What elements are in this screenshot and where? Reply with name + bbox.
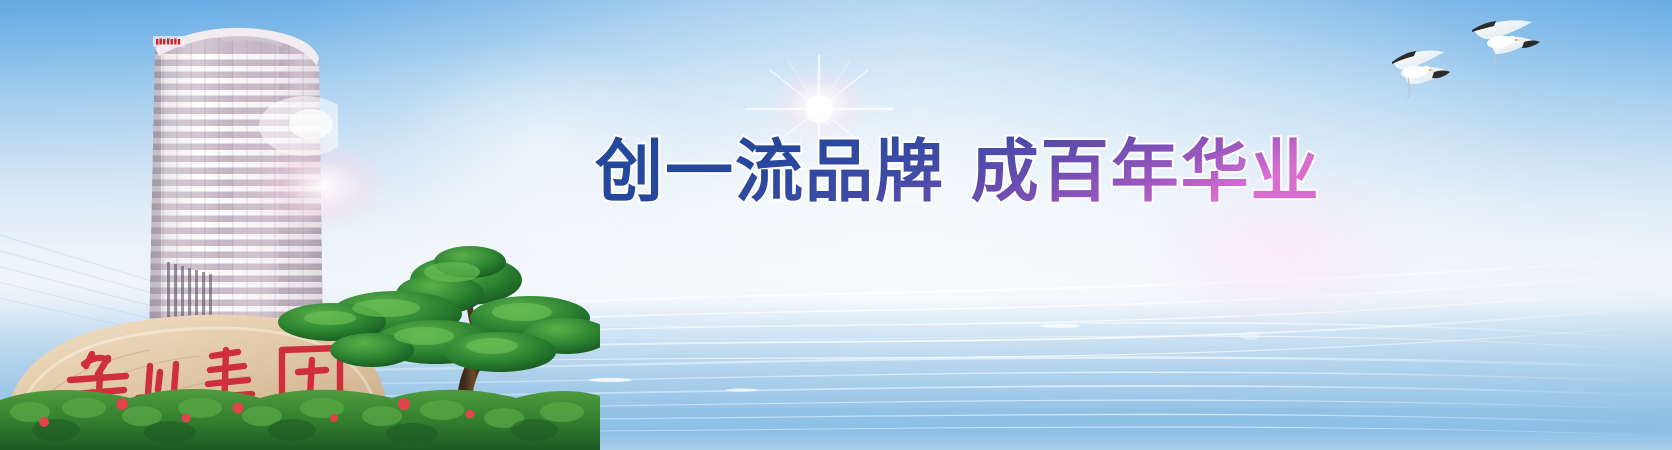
seagull-pair-icon — [1372, 8, 1572, 118]
seagull-upper — [1472, 20, 1540, 64]
slogan-text: 创一流品牌 成百年华业 — [595, 131, 1355, 215]
hero-banner: 创一流品牌 成百年华业 — [0, 0, 1672, 450]
slogan-svg: 创一流品牌 成百年华业 — [595, 131, 1355, 215]
building-rooftop-sign — [153, 36, 185, 47]
slogan-line: 创一流品牌 成百年华业 — [594, 133, 1321, 212]
monument-stone-and-pine — [0, 232, 600, 450]
seagull-lower — [1392, 50, 1450, 98]
hedge-row — [0, 389, 600, 450]
